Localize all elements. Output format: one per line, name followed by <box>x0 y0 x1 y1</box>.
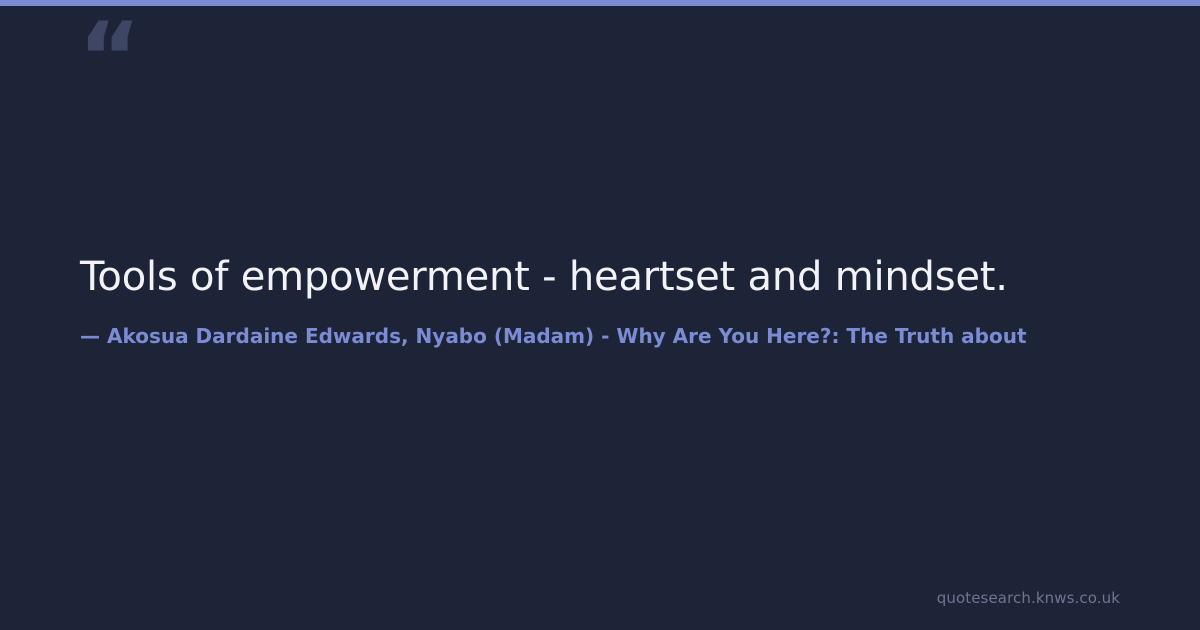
quote-attribution: — Akosua Dardaine Edwards, Nyabo (Madam)… <box>80 322 1200 350</box>
quote-block: Tools of empowerment - heartset and mind… <box>80 252 1200 302</box>
quotation-mark-icon: “ <box>78 10 139 106</box>
top-accent-bar <box>0 0 1200 6</box>
quote-card: “ Tools of empowerment - heartset and mi… <box>0 0 1200 630</box>
quote-text: Tools of empowerment - heartset and mind… <box>80 252 1200 302</box>
site-watermark: quotesearch.knws.co.uk <box>937 591 1120 606</box>
